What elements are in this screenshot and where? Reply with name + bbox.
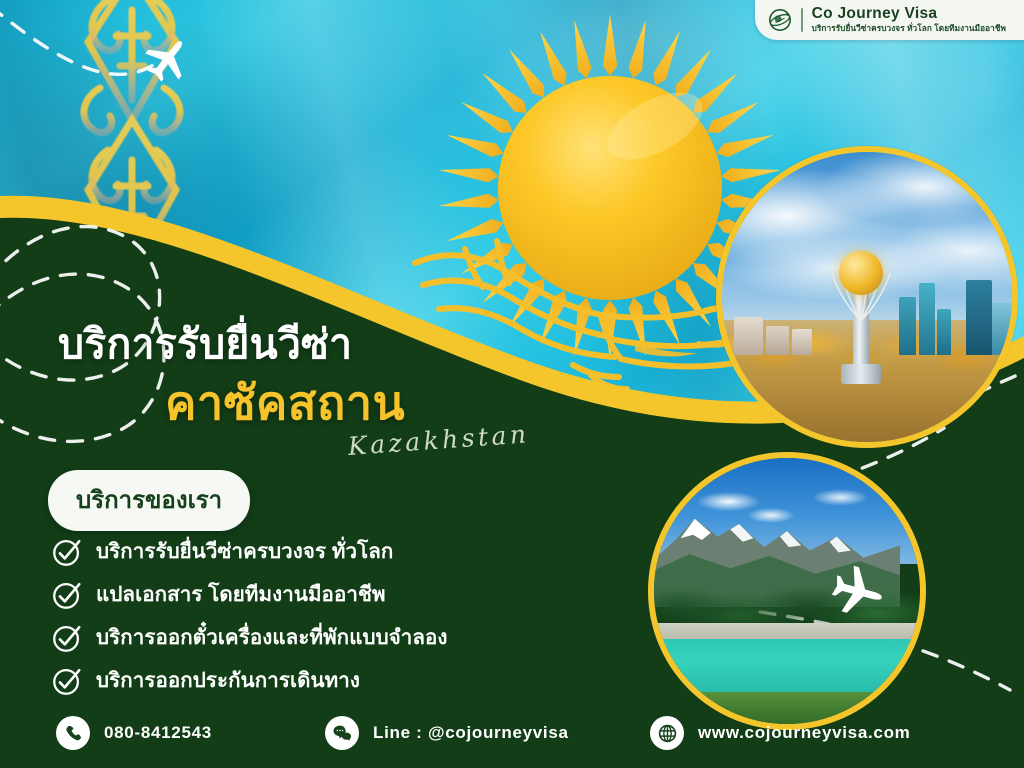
astana-building [792, 329, 812, 355]
phone-icon [56, 716, 90, 750]
contact-line-value: Line : @cojourneyvisa [373, 723, 569, 743]
service-item: บริการออกประกันการเดินทาง [52, 660, 612, 701]
service-item: บริการออกตั๋วเครื่องและที่พักแบบจำลอง [52, 617, 612, 658]
contact-website-value: www.cojourneyvisa.com [698, 723, 910, 743]
baiterek-tower-base [841, 364, 881, 384]
contact-line[interactable]: Line : @cojourneyvisa [325, 716, 569, 750]
baiterek-golden-sphere [839, 251, 883, 295]
service-item-label: บริการออกประกันการเดินทาง [96, 664, 360, 697]
astana-building [899, 297, 916, 355]
contact-footer: 080-8412543 Line : @cojourneyvisa [0, 698, 1024, 768]
check-circle-icon [52, 580, 82, 610]
check-circle-icon [52, 623, 82, 653]
airplane-icon-topleft [142, 34, 194, 86]
globe-icon [650, 716, 684, 750]
brand-name: Co Journey Visa [812, 6, 1006, 22]
astana-building [734, 317, 763, 355]
astana-building [937, 309, 952, 355]
globe-plane-logo-icon [767, 7, 793, 33]
astana-building [766, 326, 789, 355]
astana-building [992, 303, 1012, 355]
contact-phone[interactable]: 080-8412543 [56, 716, 212, 750]
service-item-label: บริการออกตั๋วเครื่องและที่พักแบบจำลอง [96, 621, 448, 654]
services-pill-label: บริการของเรา [48, 470, 250, 531]
check-circle-icon [52, 666, 82, 696]
contact-website[interactable]: www.cojourneyvisa.com [650, 716, 910, 750]
line-chat-icon [325, 716, 359, 750]
services-list: บริการรับยื่นวีซ่าครบวงจร ทั่วโลก แปลเอก… [52, 531, 612, 703]
photo-astana-baiterek [716, 146, 1018, 448]
hero-headline-primary: บริการรับยื่นวีซ่า [58, 323, 352, 366]
astana-building [919, 283, 935, 356]
brand-tagline: บริการรับยื่นวีซ่าครบวงจร ทั่วโลก โดยทีม… [812, 24, 1006, 34]
service-item: บริการรับยื่นวีซ่าครบวงจร ทั่วโลก [52, 531, 612, 572]
contact-phone-value: 080-8412543 [104, 723, 212, 743]
airplane-icon-lake [828, 563, 886, 621]
brand-badge[interactable]: Co Journey Visa บริการรับยื่นวีซ่าครบวงจ… [755, 0, 1024, 40]
astana-building [966, 280, 992, 355]
service-item-label: บริการรับยื่นวีซ่าครบวงจร ทั่วโลก [96, 535, 393, 568]
brand-divider [801, 8, 803, 32]
service-item-label: แปลเอกสาร โดยทีมงานมืออาชีพ [96, 578, 386, 611]
check-circle-icon [52, 537, 82, 567]
hero-headline-country: คาซัคสถาน [165, 378, 405, 427]
service-item: แปลเอกสาร โดยทีมงานมืออาชีพ [52, 574, 612, 615]
poster-canvas: บริการรับยื่นวีซ่า คาซัคสถาน Kazakhstan … [0, 0, 1024, 768]
lake-turquoise-water [654, 639, 920, 695]
